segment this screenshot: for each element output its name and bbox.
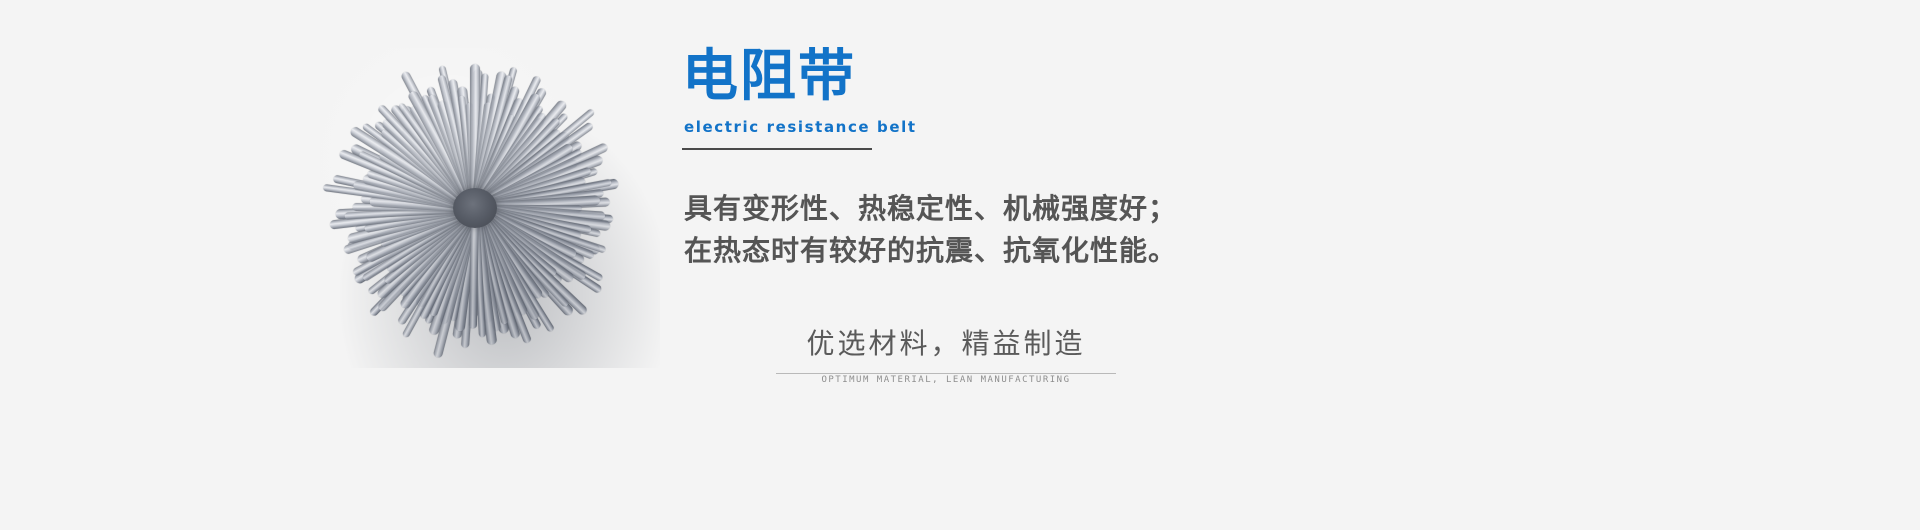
- slogan-english-wrap: OPTIMUM MATERIAL, LEAN MANUFACTURING: [776, 367, 1116, 381]
- description-line-2: 在热态时有较好的抗震、抗氧化性能。: [684, 230, 1177, 272]
- coil-center-hub: [453, 188, 497, 228]
- text-content: 电阻带 electric resistance belt 具有变形性、热稳定性、…: [682, 0, 1402, 530]
- slogan-english: OPTIMUM MATERIAL, LEAN MANUFACTURING: [817, 374, 1074, 386]
- title-divider: [682, 148, 872, 150]
- product-image: [290, 48, 660, 368]
- page-subtitle: electric resistance belt: [684, 117, 917, 137]
- product-banner: 电阻带 electric resistance belt 具有变形性、热稳定性、…: [0, 0, 1920, 530]
- slogan-chinese: 优选材料，精益制造: [776, 326, 1116, 362]
- description-line-1: 具有变形性、热稳定性、机械强度好；: [684, 188, 1177, 230]
- product-description: 具有变形性、热稳定性、机械强度好； 在热态时有较好的抗震、抗氧化性能。: [684, 188, 1177, 272]
- page-title: 电阻带: [682, 46, 856, 108]
- slogan-block: 优选材料，精益制造 OPTIMUM MATERIAL, LEAN MANUFAC…: [776, 326, 1116, 381]
